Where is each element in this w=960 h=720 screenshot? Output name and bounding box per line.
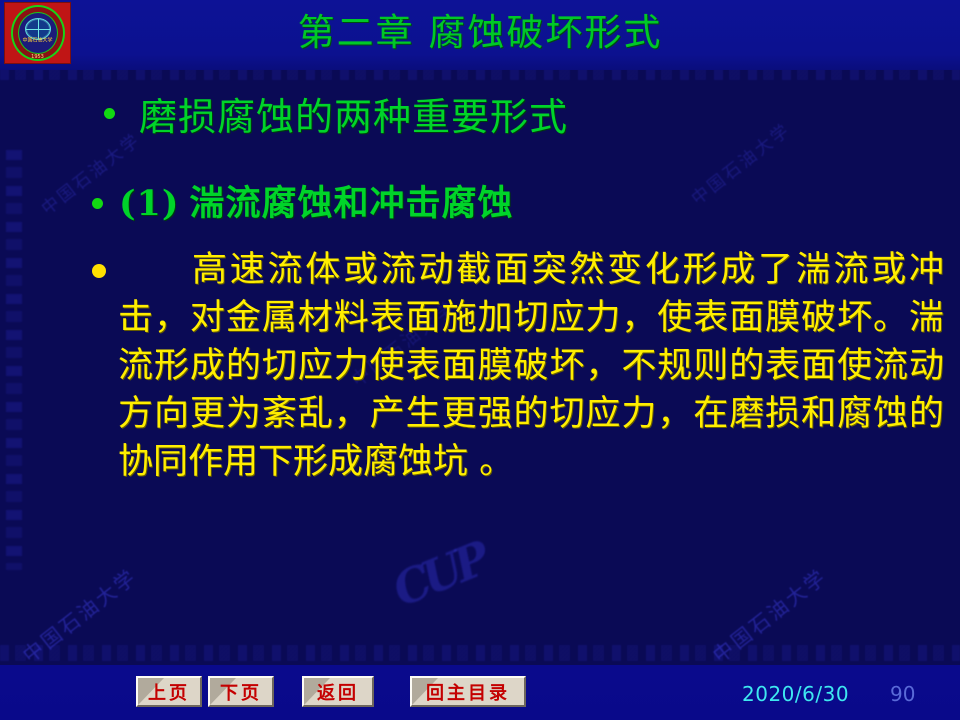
- university-logo-icon: 中国石油大学 1953: [4, 2, 71, 64]
- return-label: 返回: [317, 679, 359, 705]
- back-to-main-menu-label: 回主目录: [426, 679, 510, 705]
- previous-page-button[interactable]: 上页: [136, 676, 202, 707]
- bullet-text: (1)湍流腐蚀和冲击腐蚀: [119, 182, 514, 226]
- bullet-item: 磨损腐蚀的两种重要形式: [104, 94, 904, 140]
- footer-date: 2020/6/30: [742, 682, 849, 706]
- bullet-label: 湍流腐蚀和冲击腐蚀: [189, 183, 513, 224]
- slide-footer: 上页 下页 返回 回主目录 2020/6/30 90: [0, 665, 960, 720]
- logo-year: 1953: [31, 54, 44, 60]
- slide-body: 磨损腐蚀的两种重要形式 (1)湍流腐蚀和冲击腐蚀 高速流体或流动截面突然变化形成…: [0, 78, 960, 658]
- bullet-text: 磨损腐蚀的两种重要形式: [139, 94, 568, 140]
- paragraph-text: 高速流体或流动截面突然变化形成了湍流或冲击，对金属材料表面施加切应力，使表面膜破…: [118, 246, 944, 486]
- next-page-label: 下页: [220, 679, 262, 705]
- page-title: 第二章 腐蚀破坏形式: [0, 4, 960, 62]
- bullet-number: (1): [119, 183, 179, 224]
- next-page-button[interactable]: 下页: [208, 676, 274, 707]
- return-button[interactable]: 返回: [302, 676, 374, 707]
- footer-page-number: 90: [890, 682, 915, 706]
- bullet-dot-icon: [92, 198, 103, 209]
- slide-canvas: 中国石油大学 中国石油大学 中国石油大学 中国石油大学 中国石油大学 CUP 第…: [0, 0, 960, 720]
- previous-page-label: 上页: [148, 679, 190, 705]
- bullet-item: (1)湍流腐蚀和冲击腐蚀: [92, 182, 912, 226]
- bullet-item: 高速流体或流动截面突然变化形成了湍流或冲击，对金属材料表面施加切应力，使表面膜破…: [92, 246, 944, 486]
- bullet-dot-icon: [92, 264, 106, 278]
- back-to-main-menu-button[interactable]: 回主目录: [410, 676, 526, 707]
- bullet-dot-icon: [104, 108, 115, 119]
- logo-center-text: 中国石油大学: [22, 37, 52, 44]
- slide-header: 第二章 腐蚀破坏形式: [0, 0, 960, 70]
